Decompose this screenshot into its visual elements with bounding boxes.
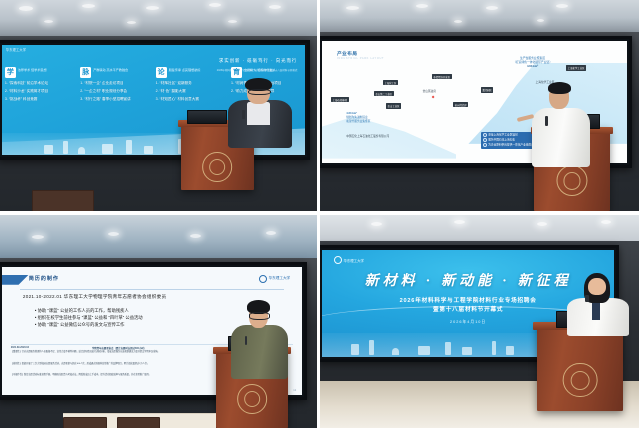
university-seal-icon [556,165,587,196]
photo-panel-bottom-right: 华东理工大学 新材料 · 新动能 · 新征程 2026年材料科学与工程学院材料行… [317,211,639,428]
slide-title-main: 求实创新 · 砥砺笃行 · 向光而行 [219,58,298,63]
ceiling [0,215,317,258]
resume-bullet: • 组织在校学生前往参与 “课蓝” 公益和 “四叶草” 公益活动 [35,314,143,321]
slide-column: 学 浓厚学术 促学术思想 1. “探索科技” 前沿学术论坛 2. “材料沙龙” … [4,67,77,131]
divider [20,289,284,290]
chair [32,190,94,211]
column-item: 1. “材辉社区” 迎新服务 [156,81,228,87]
university-logo-text: 华东理工大学 [269,276,291,281]
callout-line: 和现代服务业集聚区 [346,120,370,124]
photo-panel-top-right: 产业布局 INDUSTRIAL PARK LAYOUT 生产性服务业聚集区 （打… [317,0,639,211]
column-badge-icon: 脉 [80,67,91,78]
column-item: 2. “材料沙龙” 实践育才项目 [5,89,77,95]
title-accent-bar [2,275,29,285]
column-item: 1. “探索科技” 前沿学术论坛 [5,81,77,87]
map-pin-icon [431,96,434,99]
university-seal-icon [563,363,598,398]
map-label: 杭州湾北岸 [453,102,468,107]
map-label: 上海化工区 [383,80,398,85]
chair [63,417,106,428]
bullet-dot-icon [483,133,487,137]
slide-column: 脉 产教联动 高水平产教融合 1. “材院一企” 企业走访项目 2. “一企之材… [79,67,152,131]
column-subtitle: 产教联动 高水平产教融合 [93,67,128,73]
slide-page-number: 12 [293,389,296,392]
ceiling [320,215,639,241]
map-label: 上海化学工业区 [566,65,586,70]
university-logo: 华东理工大学 [334,256,364,264]
column-subtitle: 浓厚学术 促学术思想 [18,67,47,73]
slide-title: 产业布局 INDUSTRIAL PARK LAYOUT [337,51,384,61]
speaker [231,300,288,379]
laptop-screen [187,110,227,125]
university-mark-icon [259,275,267,283]
slide-title: 简历的制作 [29,275,59,282]
column-item: 3. “挑战杯” 科创竞赛 [5,97,77,103]
column-item: 3. “材行之路” 春季小型招聘宣讲 [80,97,152,103]
column-subtitle: 立德树人 培养时代新人 [244,67,276,73]
speaker [228,78,291,148]
column-item: 1. “材院一企” 企业走访项目 [80,81,152,87]
university-mark-icon [334,256,342,264]
map-label: 上海石化基地 [331,97,349,102]
slide-title-en: INDUSTRIAL PARK LAYOUT [337,57,384,60]
map-label: 金山工业区 [386,103,401,108]
column-item: 2. “材·色” 摄影大赛 [156,89,228,95]
column-badge-icon: 学 [5,67,16,78]
speaker [531,82,592,166]
slide-logo-text: 华东理工大学 [6,47,26,52]
ceiling [320,0,639,32]
resume-bullet: • 协助 “课蓝” 公益微信公众号的发文与宣传工作 [35,321,143,328]
map-water-area-secondary [322,107,456,158]
map-left-callout: 4.63 km² 规划为先进制造业 和现代服务业集聚区 [346,112,370,125]
map-plain-label: 金山区政府 [423,89,436,93]
bullet-dot-icon [483,138,487,142]
chair [117,417,160,428]
resume-bullet: • 协助 “课蓝” 公益的工作人员的工作，帮助残疾人 [35,307,143,314]
host [569,273,626,337]
column-item: 3. “材知匠心” 材料创意大赛 [156,97,228,103]
column-badge-icon: 论 [156,67,167,78]
column-subtitle: 朋辈传承 点亮理想航标 [169,67,201,73]
bullet-dot-icon [483,143,487,147]
column-item: 2. “一企之材” 职业规划分享会 [80,89,152,95]
map-label: 漕泾园区 [481,87,494,92]
callout-footer: 中国石化上海石油化工股份有限公司 [346,134,389,138]
university-logo: 华东理工大学 [259,275,290,283]
ceiling [0,0,317,36]
university-logo-text: 华东理工大学 [344,258,364,263]
university-seal-icon [237,384,267,414]
photo-collage: 华东理工大学 求实创新 · 砥砺笃行 · 向光而行 2026年材料科学与工程学院… [0,0,639,428]
resume-bullets: • 协助 “课蓝” 公益的工作人员的工作，帮助残疾人 • 组织在校学生前往参与 … [35,307,143,329]
resume-lead-line: 2021.10-2022.01 华东理工大学物理学院青年志愿者协会组织委员 [23,294,167,300]
university-seal-icon [202,152,232,182]
column-badge-icon: 育 [231,67,242,78]
footnote-title: 学院青年志愿者协会（累计志愿时长超过600小时） [92,346,146,350]
map-label: 奉贤经济开发区 [432,74,452,79]
photo-panel-top-left: 华东理工大学 求实创新 · 砥砺笃行 · 向光而行 2026年材料科学与工程学院… [0,0,317,211]
photo-panel-bottom-left: 简历的制作 华东理工大学 2021.10-2022.01 华东理工大学物理学院青… [0,211,317,428]
map-label: 金山第二工业区 [374,91,394,96]
footnote-date: 2021.09-2023.04 [11,346,29,349]
